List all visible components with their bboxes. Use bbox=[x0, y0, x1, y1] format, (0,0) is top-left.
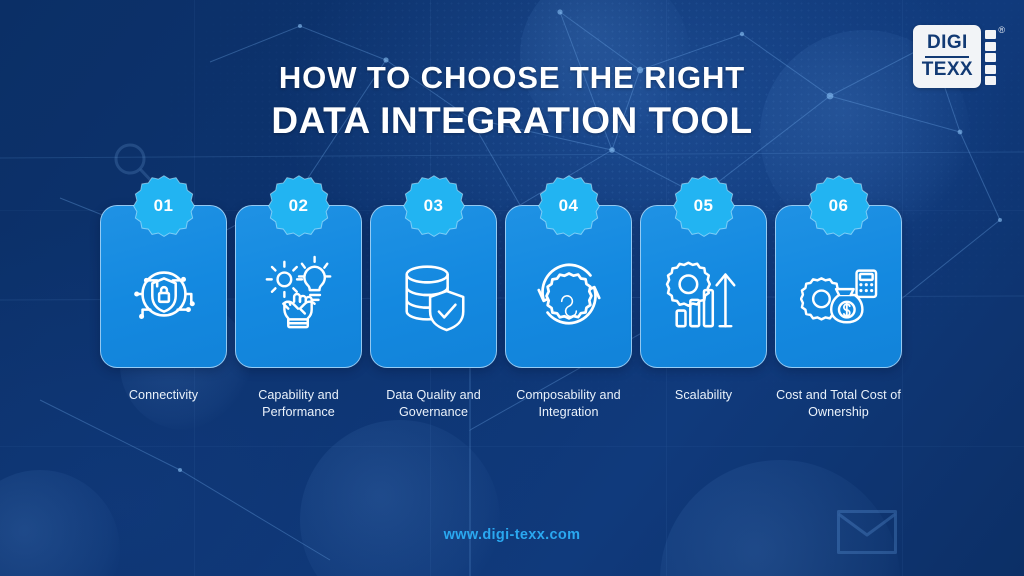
criteria-card-5[interactable]: 05 Scalability bbox=[640, 205, 767, 421]
network-shield-lock-icon bbox=[125, 255, 203, 333]
database-shield-check-icon bbox=[395, 255, 473, 333]
gear-infinity-refresh-icon bbox=[530, 255, 608, 333]
card-number-text: 04 bbox=[539, 176, 598, 235]
card-number-text: 02 bbox=[269, 176, 328, 235]
card-number-text: 06 bbox=[809, 176, 868, 235]
card-body[interactable]: 04 bbox=[505, 205, 632, 368]
logo-text-digi: DIGI bbox=[927, 33, 968, 53]
card-label: Cost and Total Cost of Ownership bbox=[770, 387, 908, 421]
card-label: Capability and Performance bbox=[230, 387, 368, 421]
card-number-text: 03 bbox=[404, 176, 463, 235]
card-label: Connectivity bbox=[95, 387, 233, 404]
filmstrip-cell bbox=[985, 30, 996, 39]
criteria-card-1[interactable]: 01 bbox=[100, 205, 227, 421]
card-number-badge: 03 bbox=[404, 176, 463, 235]
card-body[interactable]: 05 bbox=[640, 205, 767, 368]
card-body[interactable]: 06 bbox=[775, 205, 902, 368]
infographic-canvas: DIGI TEXX ® HOW TO CHOOSE THE RIGHT DATA… bbox=[0, 0, 1024, 576]
criteria-card-3[interactable]: 03 Data Quality and Governance bbox=[370, 205, 497, 421]
card-number-badge: 02 bbox=[269, 176, 328, 235]
criteria-card-row: 01 bbox=[100, 205, 912, 421]
card-number-text: 05 bbox=[674, 176, 733, 235]
page-title: HOW TO CHOOSE THE RIGHT DATA INTEGRATION… bbox=[0, 60, 1024, 144]
title-line-2: DATA INTEGRATION TOOL bbox=[0, 99, 1024, 143]
card-label: Composability and Integration bbox=[500, 387, 638, 421]
background-blob bbox=[0, 470, 120, 576]
card-number-badge: 04 bbox=[539, 176, 598, 235]
title-line-1: HOW TO CHOOSE THE RIGHT bbox=[0, 60, 1024, 95]
card-number-badge: 06 bbox=[809, 176, 868, 235]
card-body[interactable]: 01 bbox=[100, 205, 227, 368]
card-body[interactable]: 03 bbox=[370, 205, 497, 368]
logo-divider bbox=[925, 56, 969, 58]
background-blob bbox=[300, 420, 500, 576]
card-label: Scalability bbox=[635, 387, 773, 404]
card-number-text: 01 bbox=[134, 176, 193, 235]
gear-money-bag-calculator-icon bbox=[800, 255, 878, 333]
gear-bar-chart-arrow-icon bbox=[665, 255, 743, 333]
criteria-card-4[interactable]: 04 Composability and Integration bbox=[505, 205, 632, 421]
card-number-badge: 01 bbox=[134, 176, 193, 235]
footer-website-url[interactable]: www.digi-texx.com bbox=[0, 527, 1024, 543]
registered-trademark-symbol: ® bbox=[998, 25, 1005, 35]
card-body[interactable]: 02 bbox=[235, 205, 362, 368]
card-label: Data Quality and Governance bbox=[365, 387, 503, 421]
card-number-badge: 05 bbox=[674, 176, 733, 235]
criteria-card-6[interactable]: 06 bbox=[775, 205, 902, 421]
criteria-card-2[interactable]: 02 bbox=[235, 205, 362, 421]
filmstrip-cell bbox=[985, 42, 996, 51]
gear-bulb-hand-wrench-icon bbox=[260, 255, 338, 333]
